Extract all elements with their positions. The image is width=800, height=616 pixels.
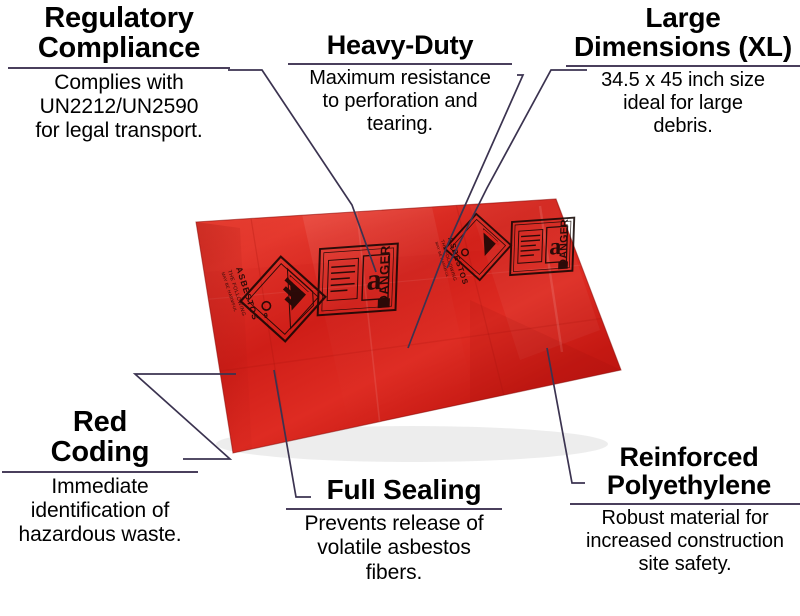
callout-body-large-dimensions: 34.5 x 45 inch size ideal for large debr…	[566, 69, 800, 139]
callout-reinforced-polyethylene: Reinforced Polyethylene Robust material …	[578, 444, 800, 576]
callout-body-reinforced-polyethylene: Robust material for increased constructi…	[570, 507, 800, 577]
callout-regulatory-compliance: Regulatory Compliance Complies with UN22…	[8, 4, 230, 144]
callout-title-heavy-duty: Heavy-Duty	[288, 32, 512, 60]
callout-rule-heavy-duty	[288, 63, 512, 65]
callout-body-regulatory-compliance: Complies with UN2212/UN2590 for legal tr…	[8, 71, 230, 144]
callout-rule-large-dimensions	[566, 65, 800, 67]
callout-body-full-sealing: Prevents release of volatile asbestos fi…	[286, 512, 502, 585]
callout-title-red-coding: Red Coding	[10, 408, 190, 468]
callout-rule-full-sealing	[286, 508, 502, 510]
callout-title-reinforced-polyethylene: Reinforced Polyethylene	[578, 444, 800, 500]
callout-full-sealing: Full Sealing Prevents release of volatil…	[298, 476, 510, 585]
callout-rule-regulatory-compliance	[8, 67, 230, 69]
callout-title-regulatory-compliance: Regulatory Compliance	[8, 4, 230, 64]
callout-red-coding: Red Coding Immediate identification of h…	[10, 408, 190, 548]
callout-title-full-sealing: Full Sealing	[298, 476, 510, 505]
callout-body-red-coding: Immediate identification of hazardous wa…	[2, 475, 198, 548]
infographic-canvas: ASBESTOS THE FOLLOWING MAY BE HARMFUL	[0, 0, 800, 616]
callout-large-dimensions: Large Dimensions (XL) 34.5 x 45 inch siz…	[566, 4, 800, 138]
callout-title-large-dimensions: Large Dimensions (XL)	[566, 4, 800, 62]
callout-body-heavy-duty: Maximum resistance to perforation and te…	[288, 67, 512, 137]
callout-rule-reinforced-polyethylene	[570, 503, 800, 505]
callout-rule-red-coding	[2, 471, 198, 473]
callout-heavy-duty: Heavy-Duty Maximum resistance to perfora…	[288, 32, 512, 136]
